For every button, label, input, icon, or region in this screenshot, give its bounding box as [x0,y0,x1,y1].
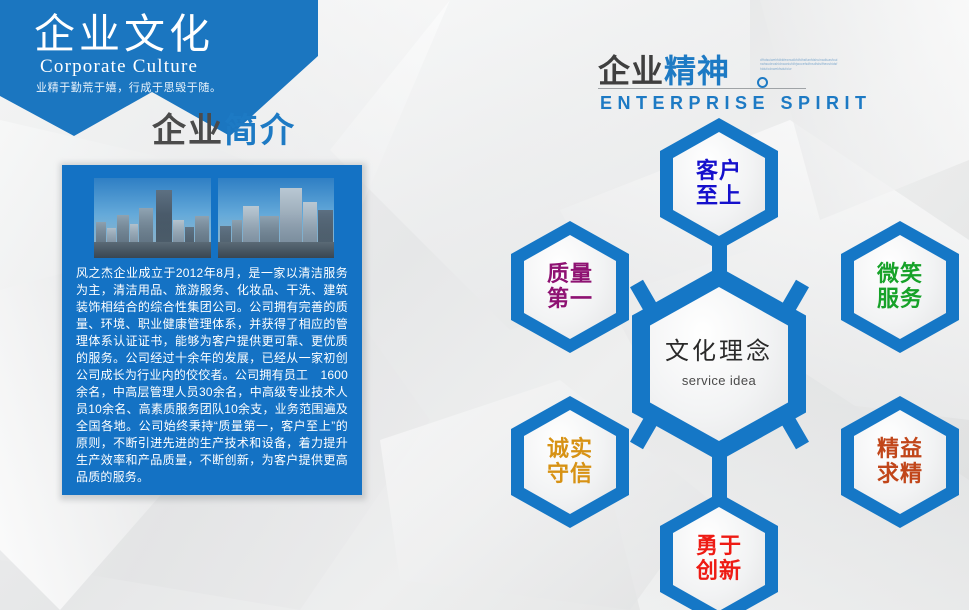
spirit-heading-blue: 精神 [664,53,730,89]
hex-center-label-en: service idea [682,374,756,389]
hex-label-line: 客户 [696,159,742,184]
hex-label-line: 至上 [696,184,742,209]
banner-title: 企业文化 [34,14,214,55]
intro-heading: 企业简介 [152,114,296,148]
hex-center-label: 文化理念 service idea [632,267,806,461]
hex-label-line: 创新 [696,559,742,584]
hex-integrity[interactable]: 诚实守信 [511,396,629,528]
hex-label: 质量第一 [511,221,629,353]
culture-hexagon-diagram: 客户至上 微笑服务 精益求精 勇于创新 诚实守信 质量第一 [470,118,969,610]
hex-label: 精益求精 [841,396,959,528]
intro-heading-blue: 简介 [224,112,296,150]
intro-card: 风之杰企业成立于2012年8月，是一家以清洁服务为主，清洁用品、旅游服务、化妆品… [62,165,362,495]
poster-canvas: 企业文化 Corporate Culture 业精于勤荒于嬉，行成于思毁于随。 … [0,0,969,610]
decorative-micro-text: dfhdsuiwehfdbkfewnudkfdfdhsfianfdshuinad… [760,58,838,84]
photo-strip [94,178,334,258]
hex-label-line: 微笑 [877,262,923,287]
cityscape-photo-right [218,178,335,258]
hex-excellence[interactable]: 精益求精 [841,396,959,528]
hex-smile-service[interactable]: 微笑服务 [841,221,959,353]
hex-label-line: 求精 [877,462,923,487]
intro-heading-dark: 企业 [152,112,224,150]
hex-label-line: 质量 [547,262,593,287]
spirit-subtitle: ENTERPRISE SPIRIT [600,93,872,114]
cityscape-photo-left [94,178,211,258]
hex-customer-first[interactable]: 客户至上 [660,118,778,250]
hex-label-line: 守信 [547,462,593,487]
spirit-divider [598,88,806,89]
hex-label-line: 精益 [877,437,923,462]
hex-label: 客户至上 [660,118,778,250]
hex-label-line: 诚实 [547,437,593,462]
spirit-heading-dark: 企业 [598,53,664,89]
hex-label-line: 服务 [877,287,923,312]
hex-center-culture-idea[interactable]: 文化理念 service idea [632,267,806,461]
hex-innovation[interactable]: 勇于创新 [660,493,778,610]
hex-label: 诚实守信 [511,396,629,528]
spirit-heading: 企业精神 [598,55,730,87]
hex-label-line: 第一 [547,287,593,312]
hex-quality-first[interactable]: 质量第一 [511,221,629,353]
hex-label-line: 勇于 [696,534,742,559]
hex-label: 微笑服务 [841,221,959,353]
hex-center-label-cn: 文化理念 [665,339,773,366]
intro-body-text: 风之杰企业成立于2012年8月，是一家以清洁服务为主，清洁用品、旅游服务、化妆品… [76,265,348,486]
banner-motto: 业精于勤荒于嬉，行成于思毁于随。 [36,79,222,95]
hex-label: 勇于创新 [660,493,778,610]
banner-subtitle: Corporate Culture [40,56,198,78]
